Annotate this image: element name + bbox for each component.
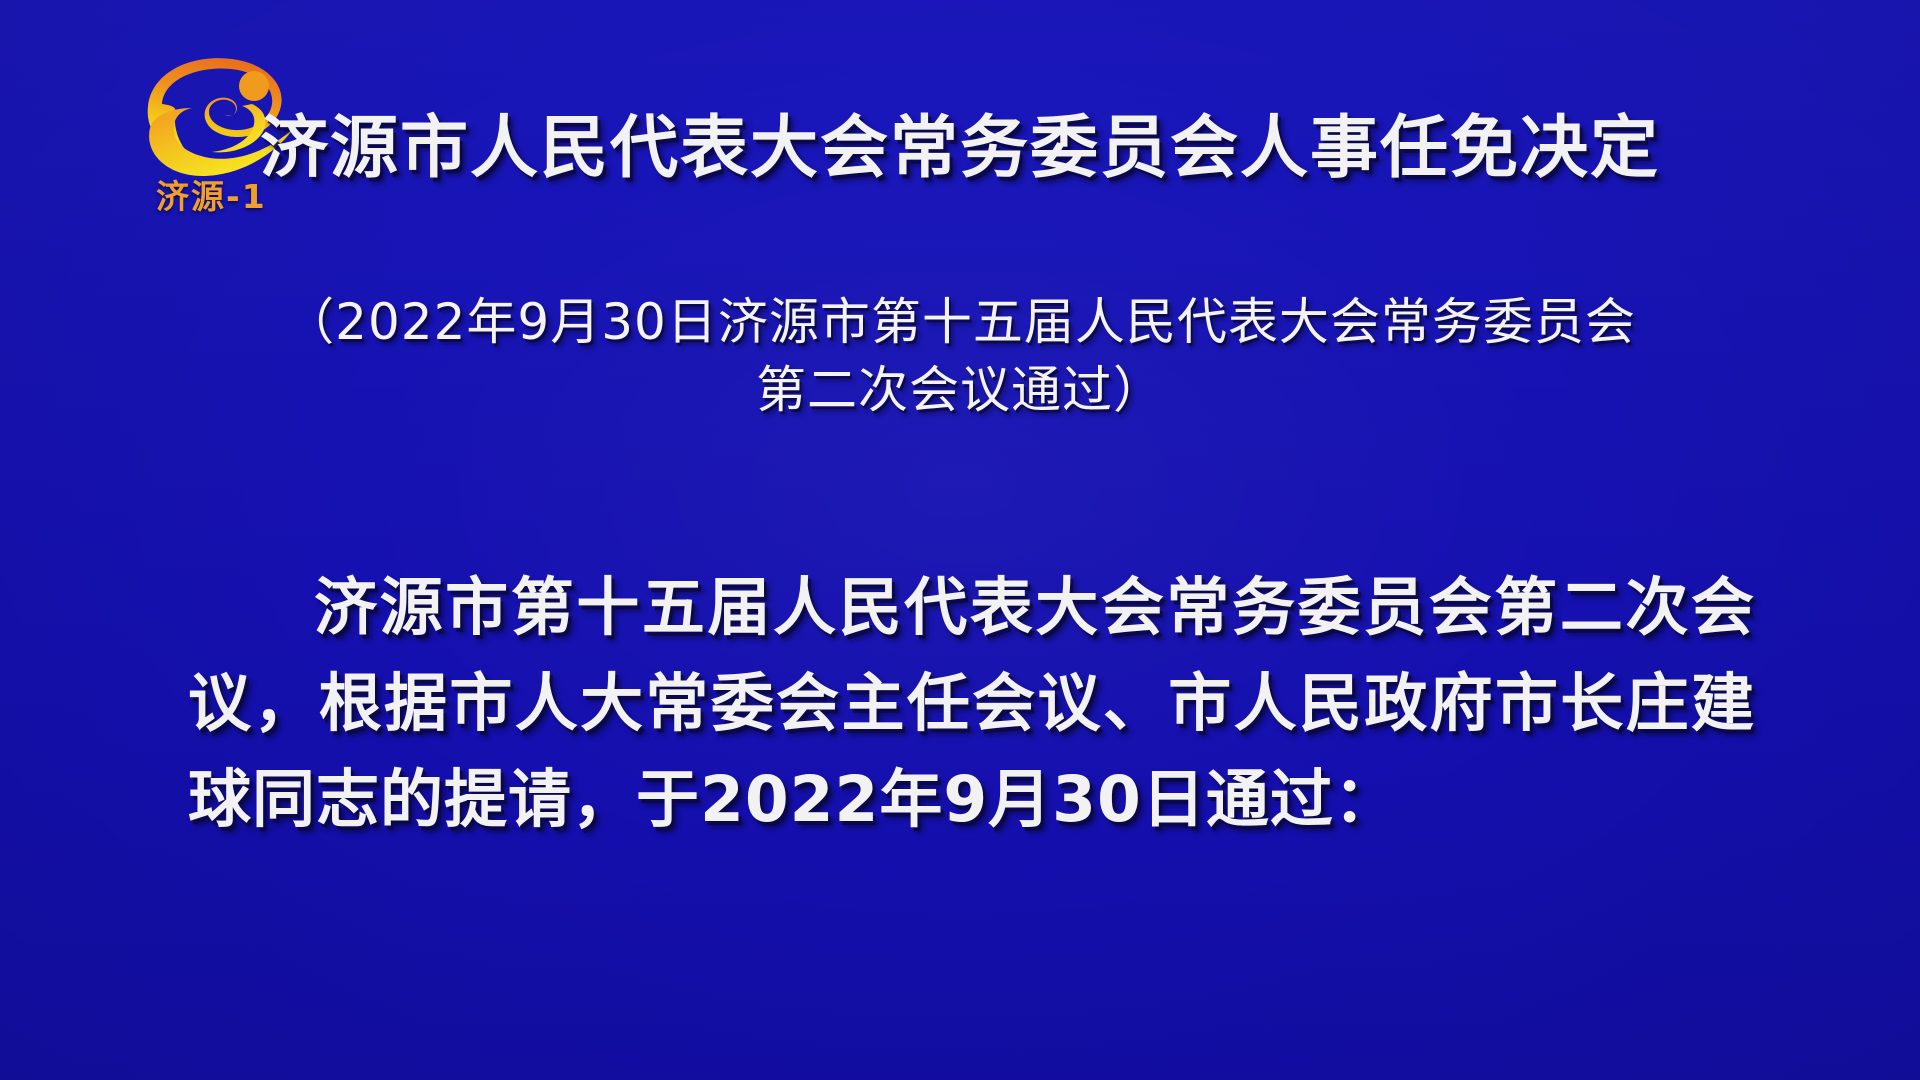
subtitle-line-1: （2022年9月30日济源市第十五届人民代表大会常务委员会 — [200, 288, 1720, 356]
subtitle: （2022年9月30日济源市第十五届人民代表大会常务委员会 第二次会议通过） — [200, 288, 1720, 424]
body-text: 济源市第十五届人民代表大会常务委员会第二次会议，根据市人大常委会主任会议、市人民… — [188, 560, 1755, 848]
broadcast-title-card: 济源-1 济源市人民代表大会常务委员会人事任免决定 （2022年9月30日济源市… — [0, 0, 1920, 1080]
subtitle-line-2: 第二次会议通过） — [200, 356, 1720, 424]
page-title: 济源市人民代表大会常务委员会人事任免决定 — [0, 92, 1920, 191]
body-paragraph: 济源市第十五届人民代表大会常务委员会第二次会议，根据市人大常委会主任会议、市人民… — [188, 560, 1755, 848]
